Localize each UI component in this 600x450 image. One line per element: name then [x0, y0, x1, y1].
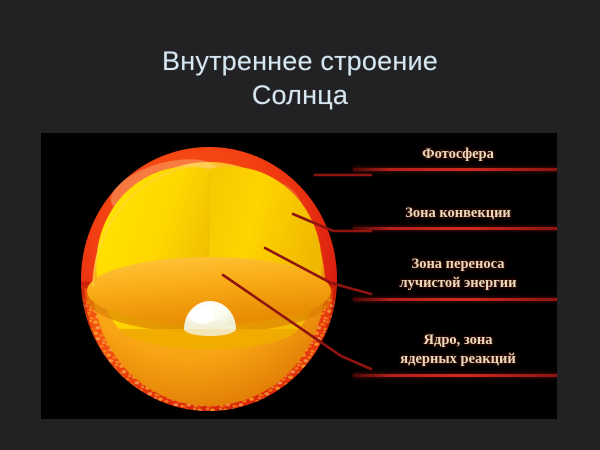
- label-convection: Зона конвекции: [359, 204, 557, 223]
- label-core-text: Ядро, зона ядерных реакций: [359, 331, 557, 369]
- label-photosphere-text: Фотосфера: [359, 145, 557, 164]
- label-convection-text: Зона конвекции: [359, 204, 557, 223]
- label-photosphere-underline: [353, 168, 557, 171]
- label-photosphere: Фотосфера: [359, 145, 557, 164]
- label-core-underline: [353, 374, 557, 377]
- figure-panel: Фотосфера Зона конвекции Зона переноса л…: [41, 133, 557, 419]
- label-radiative-text: Зона переноса лучистой энергии: [359, 255, 557, 293]
- label-core: Ядро, зона ядерных реакций: [359, 331, 557, 369]
- label-column: Фотосфера Зона конвекции Зона переноса л…: [359, 133, 557, 419]
- label-convection-underline: [353, 227, 557, 230]
- sun-cutaway-diagram: [41, 133, 361, 419]
- label-radiative-underline: [353, 298, 557, 301]
- slide-canvas: Внутреннее строение Солнца: [0, 0, 600, 450]
- label-radiative: Зона переноса лучистой энергии: [359, 255, 557, 293]
- page-title: Внутреннее строение Солнца: [0, 44, 600, 112]
